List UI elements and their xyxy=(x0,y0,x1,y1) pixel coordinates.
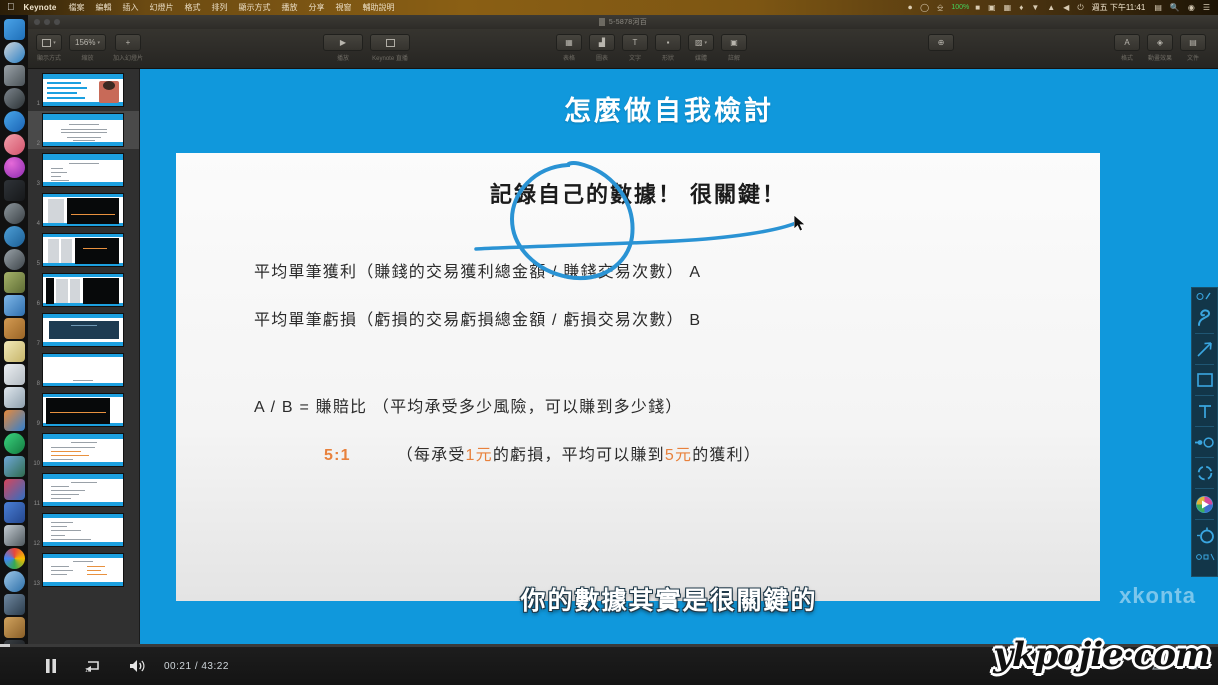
window-controls[interactable] xyxy=(34,19,60,25)
list-item[interactable]: 2 xyxy=(28,111,139,149)
dock-icon-photoshop[interactable] xyxy=(4,594,25,615)
list-item[interactable]: 5 xyxy=(28,231,139,269)
insert-shape-button[interactable]: ▪ 形狀 xyxy=(655,34,681,62)
slide-number: 10 xyxy=(28,461,42,467)
color-wheel-icon[interactable] xyxy=(1193,489,1216,519)
insert-table-label: 表格 xyxy=(563,53,575,62)
dock-icon-folder[interactable] xyxy=(4,318,25,339)
view-label: 顯示方式 xyxy=(37,53,61,62)
toolbar-settings-icon[interactable] xyxy=(1193,550,1216,563)
live-icon xyxy=(386,39,395,47)
table-icon: ▦ xyxy=(565,38,573,47)
zoom-label: 縮放 xyxy=(81,53,93,62)
formula-line-a: 平均單筆獲利（賺錢的交易獲利總金額 / 賺錢交易次數） A xyxy=(254,258,701,282)
dock-icon-chrome-alt2[interactable] xyxy=(4,249,25,270)
slide-headline: 記錄自己的數據！ 很關鍵！ xyxy=(176,177,1100,209)
dock-icon-maps[interactable] xyxy=(4,456,25,477)
list-item[interactable]: 1 xyxy=(28,71,139,109)
display-icon[interactable]: ▣ xyxy=(988,3,996,12)
collaborate-button[interactable]: ⊕ xyxy=(928,34,954,59)
slide-navigator[interactable]: 1 2 xyxy=(28,69,140,655)
macos-dock[interactable] xyxy=(0,15,28,685)
document-label: 文件 xyxy=(1187,53,1199,62)
insert-chart-label: 圖表 xyxy=(596,53,608,62)
dock-icon-dropbox[interactable] xyxy=(4,226,25,247)
slide-number: 1 xyxy=(28,101,42,107)
slide-thumbnail-2[interactable] xyxy=(42,113,124,147)
keynote-live-label: Keynote 直播 xyxy=(372,53,408,62)
undo-circle-icon[interactable] xyxy=(1193,458,1216,488)
formula-line-ratio: A / B = 賺賠比 （平均承受多少風險，可以賺到多少錢） xyxy=(254,393,682,417)
list-item[interactable]: 11 xyxy=(28,471,139,509)
zoom-value: 156% xyxy=(75,38,95,47)
annotation-toolbar[interactable] xyxy=(1191,287,1218,577)
volume-icon[interactable] xyxy=(128,658,146,674)
menubar-clock[interactable]: 週五 下午11:41 xyxy=(1092,2,1146,13)
calendar-icon[interactable]: ▤ xyxy=(1154,3,1162,12)
zoom-button-toolbar[interactable]: 156%▾ 縮放 xyxy=(69,34,106,62)
volume-icon[interactable]: ◀ xyxy=(1063,3,1069,12)
document-title: 5-5878河百 xyxy=(609,17,647,27)
shape-icon: ▪ xyxy=(667,38,670,47)
slide-thumbnail-3[interactable] xyxy=(42,153,124,187)
toolbar-group-left: ▾ 顯示方式 156%▾ 縮放 + 加入幻燈片 xyxy=(36,34,143,62)
ratio-value: 5:1 xyxy=(324,447,351,464)
battery-status-text: 100% xyxy=(951,4,969,11)
plus-icon: + xyxy=(126,38,131,47)
dock-icon-spotify[interactable] xyxy=(4,433,25,454)
insert-chart-button[interactable]: ▟ 圖表 xyxy=(589,34,615,62)
time-display: 00:21 / 43:22 xyxy=(164,661,229,672)
list-item[interactable]: 4 xyxy=(28,191,139,229)
notes-icon[interactable]: ▦ xyxy=(1004,3,1012,12)
format-label: 格式 xyxy=(1121,53,1133,62)
menu-item-window[interactable]: 視窗 xyxy=(335,2,351,13)
format-button[interactable]: A 格式 xyxy=(1114,34,1140,62)
keyboard-icon[interactable]: ⎒ xyxy=(937,3,943,13)
presentation-logo: xkonta xyxy=(1119,583,1196,609)
list-item[interactable]: 9 xyxy=(28,391,139,429)
svg-text:10: 10 xyxy=(85,668,91,674)
collaborate-label xyxy=(940,53,942,59)
animate-label: 動畫效果 xyxy=(1148,53,1172,62)
animate-button[interactable]: ◈ 動畫效果 xyxy=(1147,34,1173,62)
toolbar-group-inspector: A 格式 ◈ 動畫效果 ▤ 文件 xyxy=(1114,34,1206,62)
document-button[interactable]: ▤ 文件 xyxy=(1180,34,1206,62)
slide-number: 7 xyxy=(28,341,42,347)
spotlight-ring-icon[interactable] xyxy=(1193,520,1216,550)
slide-number: 4 xyxy=(28,221,42,227)
example-highlight-1: 1元 xyxy=(466,447,493,464)
play-icon: ▶ xyxy=(340,38,346,47)
slide-thumbnail-5[interactable] xyxy=(42,233,124,267)
progress-fill xyxy=(0,644,10,647)
slide-thumbnail-12[interactable] xyxy=(42,513,124,547)
comment-icon: ▣ xyxy=(730,38,738,47)
rectangle-icon[interactable] xyxy=(1193,365,1216,395)
chevron-down-icon: ▾ xyxy=(97,40,100,46)
menu-item-edit[interactable]: 編輯 xyxy=(95,2,111,13)
menu-item-help[interactable]: 輔助說明 xyxy=(362,2,394,13)
dock-icon-podcasts[interactable] xyxy=(4,88,25,109)
example-middle: 的虧損，平均可以賺到 xyxy=(493,447,665,464)
dock-icon-teams[interactable] xyxy=(4,502,25,523)
play-label: 播放 xyxy=(337,53,349,62)
play-button[interactable]: ▶ 播放 xyxy=(323,34,363,62)
text-icon[interactable] xyxy=(1193,396,1216,426)
slide-number: 2 xyxy=(28,141,42,147)
chart-icon: ▟ xyxy=(599,38,605,47)
screenshot-root:  Keynote 檔案 編輯 插入 幻燈片 格式 排列 顯示方式 播放 分享 … xyxy=(0,0,1218,685)
toolbar-group-insert: ▦ 表格 ▟ 圖表 T 文字 ▪ 形狀 ▨▾ 媒體 xyxy=(556,34,747,62)
example-prefix: （每承受 xyxy=(397,447,466,464)
menu-item-share[interactable]: 分享 xyxy=(308,2,324,13)
keynote-toolbar: ▾ 顯示方式 156%▾ 縮放 + 加入幻燈片 ▶ 播放 xyxy=(28,29,1218,69)
slide-number: 9 xyxy=(28,421,42,427)
menu-item-play[interactable]: 播放 xyxy=(281,2,297,13)
format-icon: A xyxy=(1124,38,1129,47)
document-icon xyxy=(599,18,605,26)
zoom-button[interactable] xyxy=(54,19,60,25)
slide-number: 5 xyxy=(28,261,42,267)
formula-line-example: 5:1（每承受1元的虧損，平均可以賺到5元的獲利） xyxy=(324,441,761,465)
animate-icon: ◈ xyxy=(1157,38,1163,47)
apple-menu-icon[interactable]:  xyxy=(7,3,15,13)
insert-comment-button[interactable]: ▣ 註解 xyxy=(721,34,747,62)
menu-item-format[interactable]: 格式 xyxy=(184,2,200,13)
battery-icon[interactable]: ■ xyxy=(975,3,980,12)
line-circle-icon[interactable] xyxy=(1193,427,1216,457)
dock-icon-pages[interactable] xyxy=(4,341,25,362)
slide-number: 6 xyxy=(28,301,42,307)
list-item[interactable]: 12 xyxy=(28,511,139,549)
pause-button[interactable] xyxy=(44,658,58,674)
slide-thumbnail-4[interactable] xyxy=(42,193,124,227)
dock-icon-notes[interactable] xyxy=(4,295,25,316)
insert-table-button[interactable]: ▦ 表格 xyxy=(556,34,582,62)
list-item[interactable]: 10 xyxy=(28,431,139,469)
minimize-button[interactable] xyxy=(44,19,50,25)
dock-icon-book[interactable] xyxy=(4,617,25,638)
insert-text-button[interactable]: T 文字 xyxy=(622,34,648,62)
slide-thumbnail-13[interactable] xyxy=(42,553,124,587)
handdrawn-annotation xyxy=(176,153,1100,601)
dock-icon-appstore[interactable] xyxy=(4,111,25,132)
slide-number: 13 xyxy=(28,581,42,587)
toolbar-group-play: ▶ 播放 Keynote 直播 xyxy=(323,34,410,62)
dock-icon-numbers[interactable] xyxy=(4,364,25,385)
siri-icon[interactable]: ◉ xyxy=(1188,3,1195,12)
slide-thumbnail-6[interactable] xyxy=(42,273,124,307)
dock-icon-safari[interactable] xyxy=(4,42,25,63)
dock-icon-mail[interactable] xyxy=(4,180,25,201)
add-slide-label: 加入幻燈片 xyxy=(113,53,143,62)
list-item[interactable]: 6 xyxy=(28,271,139,309)
spotlight-icon[interactable]: 🔍 xyxy=(1170,3,1180,12)
dock-icon-siri[interactable] xyxy=(4,157,25,178)
view-icon xyxy=(42,39,51,47)
dock-icon-photos[interactable] xyxy=(4,65,25,86)
insert-text-label: 文字 xyxy=(629,53,641,62)
formula-line-b: 平均單筆虧損（虧損的交易虧損總金額 / 虧損交易次數） B xyxy=(254,306,701,330)
chevron-down-icon: ▾ xyxy=(53,40,56,46)
dock-icon-keynote[interactable] xyxy=(4,387,25,408)
chevron-down-icon: ▾ xyxy=(705,40,708,46)
menu-app-name[interactable]: Keynote xyxy=(24,3,57,12)
dock-icon-chrome[interactable] xyxy=(4,548,25,569)
collaborate-icon: ⊕ xyxy=(938,38,945,47)
arrow-icon[interactable] xyxy=(1193,334,1216,364)
dock-icon-chrome-alt[interactable] xyxy=(4,203,25,224)
toolbar-handle-icon[interactable] xyxy=(1193,290,1216,303)
list-item[interactable]: 3 xyxy=(28,151,139,189)
scribble-pen-icon[interactable] xyxy=(1193,303,1216,333)
bluetooth-icon[interactable]: ⏻ xyxy=(1077,3,1083,13)
insert-comment-label: 註解 xyxy=(728,53,740,62)
list-item[interactable]: 7 xyxy=(28,311,139,349)
dock-icon-printer[interactable] xyxy=(4,525,25,546)
timer-icon[interactable]: ◯ xyxy=(920,3,929,12)
list-item[interactable]: 13 xyxy=(28,551,139,589)
add-slide-button[interactable]: + 加入幻燈片 xyxy=(113,34,143,62)
dock-icon-money[interactable] xyxy=(4,272,25,293)
insert-media-button[interactable]: ▨▾ 媒體 xyxy=(688,34,714,62)
dock-icon-slack[interactable] xyxy=(4,479,25,500)
slide-number: 3 xyxy=(28,181,42,187)
menu-item-arrange[interactable]: 排列 xyxy=(211,2,227,13)
eject-icon[interactable]: ▲ xyxy=(1047,3,1055,12)
dock-icon-music[interactable] xyxy=(4,134,25,155)
slide-number: 12 xyxy=(28,541,42,547)
window-title-bar: 5-5878河百 xyxy=(28,15,1218,29)
wifi-icon[interactable]: ▼ xyxy=(1031,3,1039,12)
example-highlight-2: 5元 xyxy=(665,447,692,464)
slide-thumbnail-7[interactable] xyxy=(42,313,124,347)
close-button[interactable] xyxy=(34,19,40,25)
control-center-icon[interactable]: ☰ xyxy=(1203,3,1210,12)
dock-icon-opera[interactable] xyxy=(4,571,25,592)
slide-thumbnail-10[interactable] xyxy=(42,433,124,467)
view-button[interactable]: ▾ 顯示方式 xyxy=(36,34,62,62)
current-time: 00:21 xyxy=(164,661,192,672)
site-watermark: ykpojie·com xyxy=(993,635,1210,675)
slide-thumbnail-11[interactable] xyxy=(42,473,124,507)
duration: 43:22 xyxy=(201,661,229,672)
slide-number: 11 xyxy=(28,501,42,507)
menu-item-slide[interactable]: 幻燈片 xyxy=(149,2,173,13)
text-icon: T xyxy=(633,38,638,47)
list-item[interactable]: 8 xyxy=(28,351,139,389)
example-suffix: 的獲利） xyxy=(692,447,761,464)
dock-icon-finder[interactable] xyxy=(4,19,25,40)
document-inspector-icon: ▤ xyxy=(1189,38,1197,47)
dock-icon-charts[interactable] xyxy=(4,410,25,431)
slide-content-card: 記錄自己的數據！ 很關鍵！ 平均單筆獲利（賺錢的交易獲利總金額 / 賺錢交易次數… xyxy=(176,153,1100,601)
video-subtitle: 你的數據其實是很關鍵的 xyxy=(140,581,1198,617)
time-separator: / xyxy=(195,661,198,672)
insert-media-label: 媒體 xyxy=(695,53,707,62)
menu-item-insert[interactable]: 插入 xyxy=(122,2,138,13)
slide-number: 8 xyxy=(28,381,42,387)
loop-icon[interactable]: 10 xyxy=(84,658,102,674)
slide-thumbnail-9[interactable] xyxy=(42,393,124,427)
dropbox-icon[interactable]: ♦ xyxy=(1019,3,1023,12)
menu-item-file[interactable]: 檔案 xyxy=(68,2,84,13)
slide-thumbnail-8[interactable] xyxy=(42,353,124,387)
media-icon: ▨ xyxy=(695,38,703,47)
keynote-window: 5-5878河百 ▾ 顯示方式 156%▾ 縮放 + 加入幻燈片 xyxy=(28,15,1218,655)
slide-title: 怎麼做自我檢討 xyxy=(140,89,1198,128)
slide-thumbnail-1[interactable] xyxy=(42,73,124,107)
insert-shape-label: 形狀 xyxy=(662,53,674,62)
macos-menu-bar:  Keynote 檔案 編輯 插入 幻燈片 格式 排列 顯示方式 播放 分享 … xyxy=(0,0,1218,15)
screen-record-icon[interactable]: ⏺ xyxy=(908,3,912,13)
menu-item-view[interactable]: 顯示方式 xyxy=(238,2,270,13)
toolbar-group-collab: ⊕ xyxy=(928,34,954,59)
keynote-live-button[interactable]: Keynote 直播 xyxy=(370,34,410,62)
slide-canvas[interactable]: 怎麼做自我檢討 記錄自己的數據！ 很關鍵！ 平均單筆獲利（賺錢的交易獲利總金額 … xyxy=(140,69,1218,655)
